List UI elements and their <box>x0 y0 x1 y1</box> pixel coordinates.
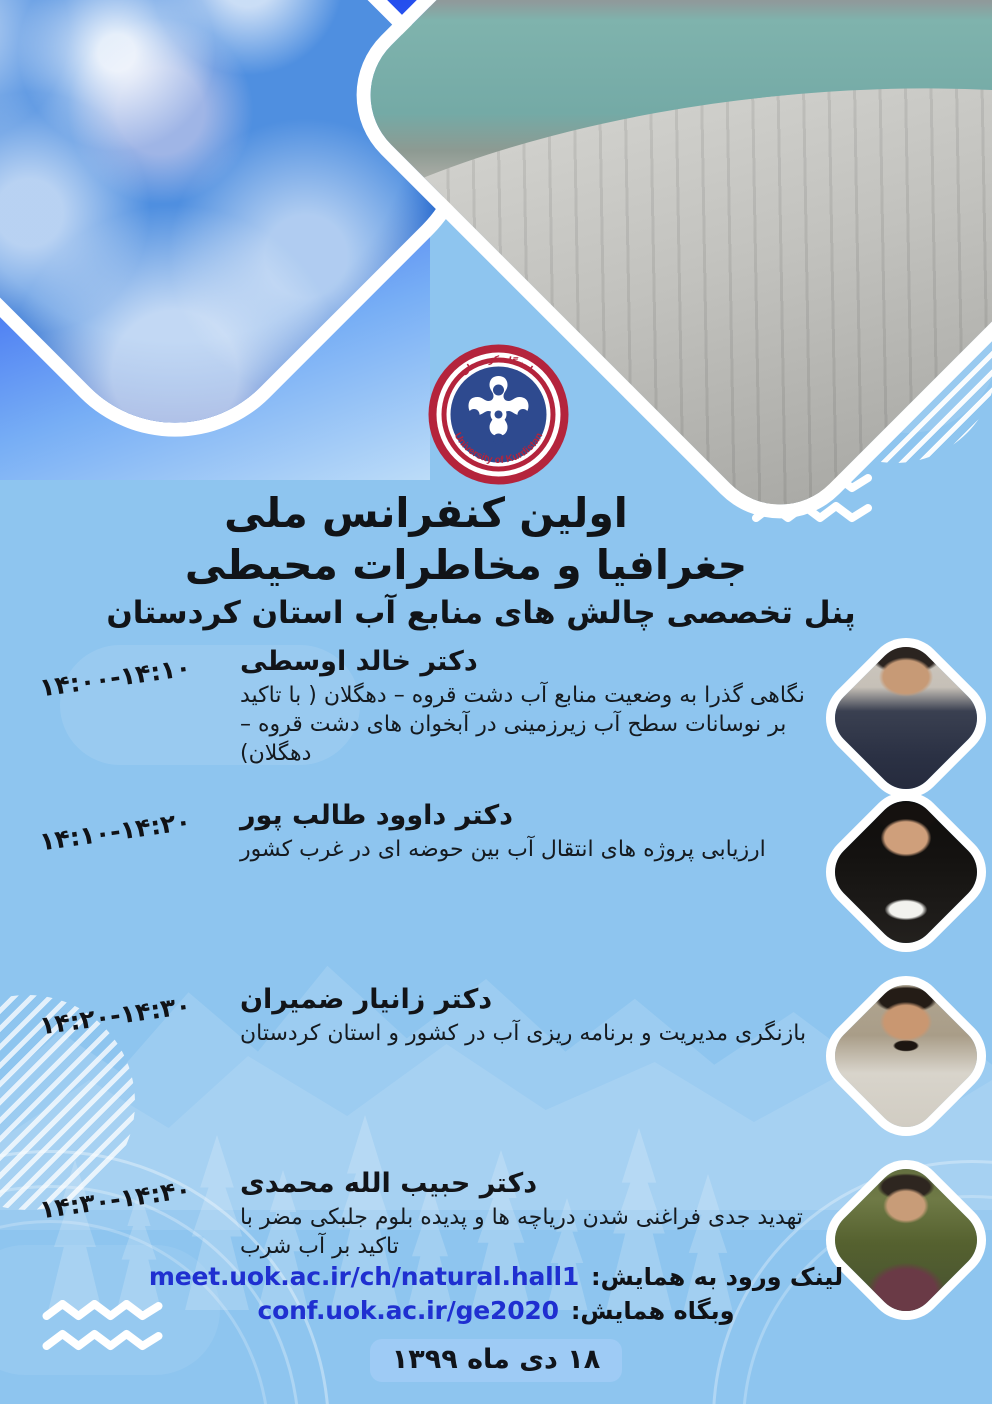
speaker-text-cell: دکتر داوود طالب پور ارزیابی پروژه های ان… <box>230 799 820 864</box>
website-link-row: وبگاه همایش: conf.uok.ac.ir/ge2020 <box>0 1296 992 1325</box>
speaker-topic: بازنگری مدیریت و برنامه ریزی آب در کشور … <box>240 1019 814 1048</box>
university-logo: دانشگاه کردستان University of Kurdistan <box>426 342 571 487</box>
website-link-url[interactable]: conf.uok.ac.ir/ge2020 <box>257 1296 558 1325</box>
event-date-badge: ۱۸ دی ماه ۱۳۹۹ <box>370 1339 623 1382</box>
meeting-link-label: لینک ورود به همایش: <box>591 1263 843 1291</box>
conference-poster: دانشگاه کردستان University of Kurdistan … <box>0 0 992 1404</box>
speaker-topic: ارزیابی پروژه های انتقال آب بین حوضه ای … <box>240 835 814 864</box>
speaker-portrait-2 <box>823 789 990 956</box>
poster-title-block: اولین کنفرانس ملی جغرافیا و مخاطرات محیط… <box>0 488 992 634</box>
speaker-text-cell: دکتر خالد اوسطی نگاهی گذرا به وضعیت مناب… <box>230 645 820 768</box>
meeting-link-row: لینک ورود به همایش: meet.uok.ac.ir/ch/na… <box>0 1262 992 1291</box>
title-line-1: اولین کنفرانس ملی <box>0 488 992 540</box>
speaker-portrait-3 <box>823 973 990 1140</box>
website-link-label: وبگاه همایش: <box>571 1297 735 1325</box>
speaker-name: دکتر خالد اوسطی <box>240 645 814 679</box>
meeting-link-url[interactable]: meet.uok.ac.ir/ch/natural.hall1 <box>149 1262 579 1291</box>
speaker-time-cell: ۱۴:۰۰-۱۴:۱۰ <box>0 645 230 692</box>
speaker-time-cell: ۱۴:۲۰-۱۴:۳۰ <box>0 983 230 1030</box>
schedule-row: دکتر داوود طالب پور ارزیابی پروژه های ان… <box>0 799 992 931</box>
speaker-text-cell: دکتر حبیب الله محمدی تهدید جدی فراغنی شد… <box>230 1167 820 1261</box>
speaker-topic: تهدید جدی فراغنی شدن دریاچه ها و پدیده ب… <box>240 1203 814 1261</box>
speaker-photo-cell <box>820 983 992 1115</box>
speaker-photo-cell <box>820 799 992 931</box>
schedule-row: دکتر خالد اوسطی نگاهی گذرا به وضعیت مناب… <box>0 645 992 777</box>
title-line-2: جغرافیا و مخاطرات محیطی <box>0 540 992 592</box>
speaker-time-cell: ۱۴:۳۰-۱۴:۴۰ <box>0 1167 230 1214</box>
poster-subtitle: پنل تخصصی چالش های منابع آب استان کردستا… <box>0 593 992 633</box>
session-time: ۱۴:۳۰-۱۴:۴۰ <box>38 1175 193 1225</box>
speaker-name: دکتر داوود طالب پور <box>240 799 814 833</box>
speaker-name: دکتر حبیب الله محمدی <box>240 1167 814 1201</box>
schedule-list: دکتر خالد اوسطی نگاهی گذرا به وضعیت مناب… <box>0 645 992 1305</box>
speaker-topic: نگاهی گذرا به وضعیت منابع آب دشت قروه – … <box>240 681 814 768</box>
speaker-photo-cell <box>820 645 992 777</box>
session-time: ۱۴:۰۰-۱۴:۱۰ <box>38 653 193 703</box>
speaker-name: دکتر زانیار ضمیران <box>240 983 814 1017</box>
schedule-row: دکتر زانیار ضمیران بازنگری مدیریت و برنا… <box>0 983 992 1115</box>
speaker-time-cell: ۱۴:۱۰-۱۴:۲۰ <box>0 799 230 846</box>
speaker-portrait-1 <box>823 635 990 802</box>
session-time: ۱۴:۱۰-۱۴:۲۰ <box>38 807 193 857</box>
speaker-text-cell: دکتر زانیار ضمیران بازنگری مدیریت و برنا… <box>230 983 820 1048</box>
session-time: ۱۴:۲۰-۱۴:۳۰ <box>38 991 193 1041</box>
footer-links: لینک ورود به همایش: meet.uok.ac.ir/ch/na… <box>0 1262 992 1382</box>
